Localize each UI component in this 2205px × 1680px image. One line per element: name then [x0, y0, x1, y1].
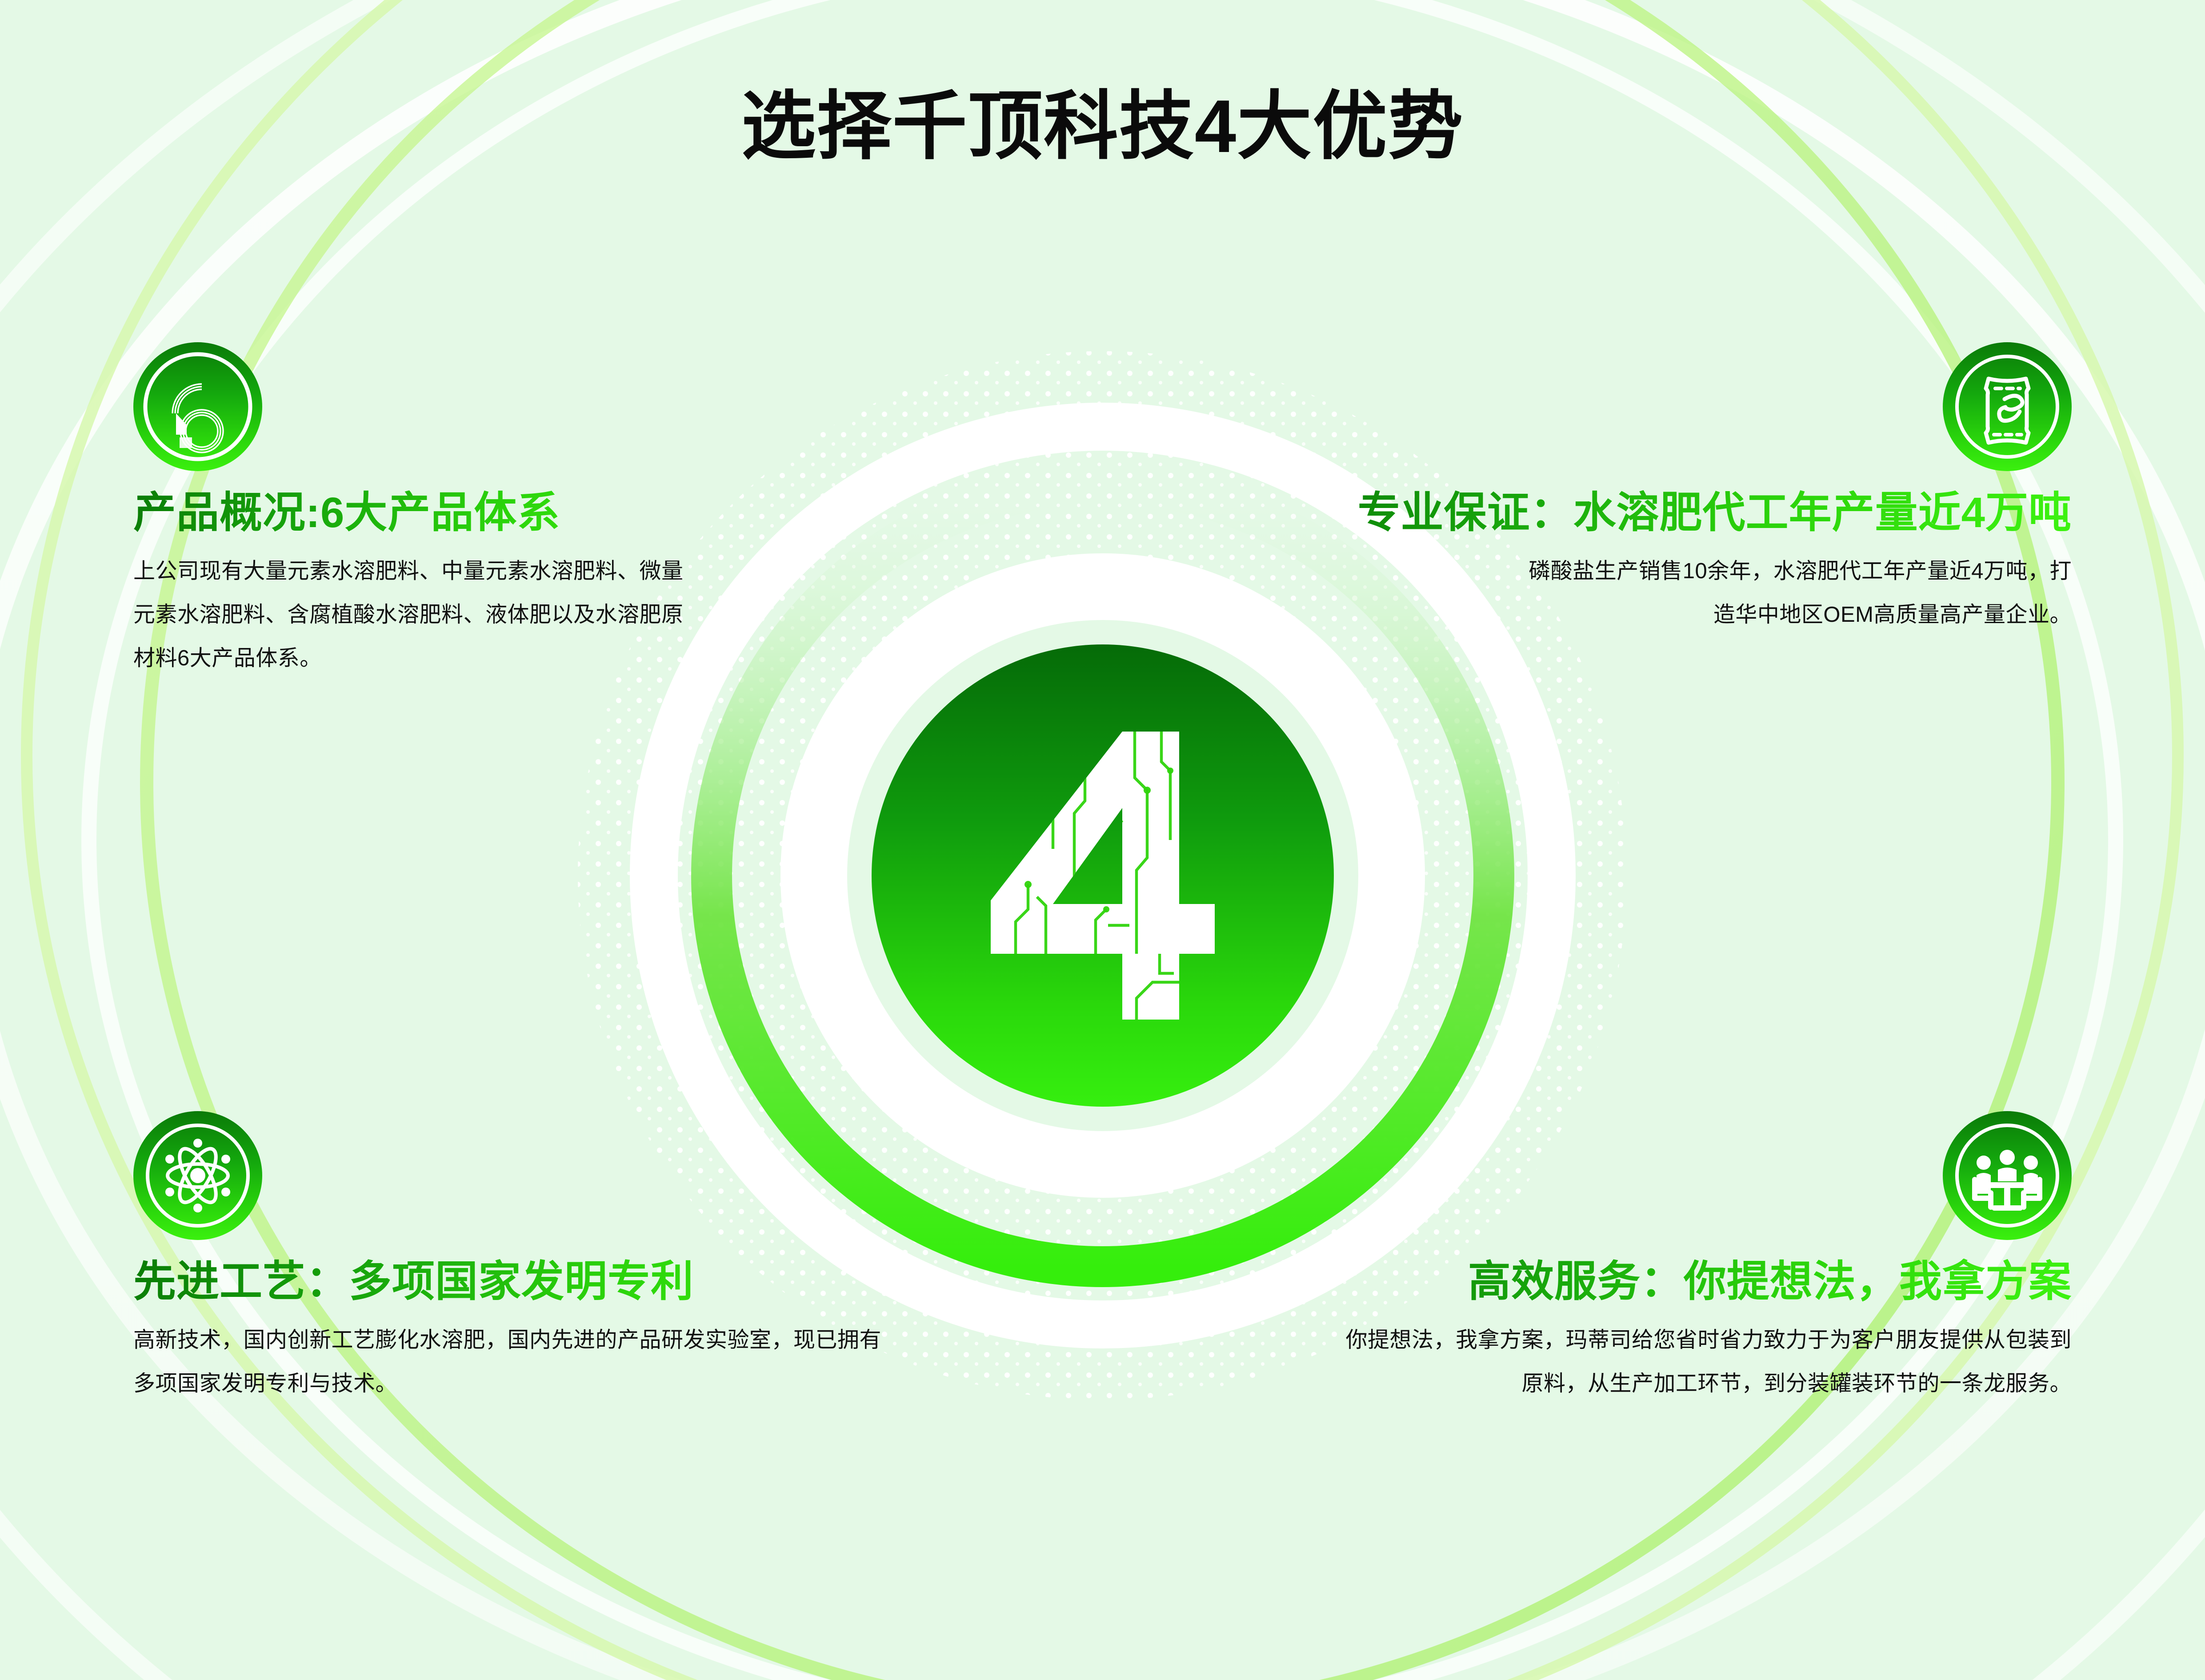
atom-icon [133, 1111, 262, 1240]
feature-title: 产品概况:6大产品体系 [133, 490, 720, 536]
page-title: 选择千顶科技4大优势 [0, 89, 2205, 164]
feature-advanced-process[interactable]: 先进工艺：多项国家发明专利 高新技术，国内创新工艺膨化水溶肥，国内先进的产品研发… [133, 1111, 898, 1405]
feature-title: 先进工艺：多项国家发明专利 [133, 1259, 898, 1305]
poster-canvas: 选择千顶科技4大优势 [0, 0, 2205, 1680]
center-number-circle [872, 644, 1334, 1107]
feature-body: 高新技术，国内创新工艺膨化水溶肥，国内先进的产品研发实验室，现已拥有多项国家发明… [133, 1318, 884, 1405]
feature-title: 高效服务：你提想法，我拿方案 [1316, 1259, 2072, 1305]
numeral-four-icon [960, 716, 1245, 1036]
feature-body: 你提想法，我拿方案，玛蒂司给您省时省力致力于为客户朋友提供从包装到原料，从生产加… [1329, 1318, 2072, 1405]
numeral-six-icon [133, 342, 262, 471]
meeting-table-icon [1943, 1111, 2072, 1240]
fertilizer-bag-icon [1943, 342, 2072, 471]
feature-title: 专业保证：水溶肥代工年产量近4万吨 [1272, 490, 2072, 536]
feature-product-overview[interactable]: 产品概况:6大产品体系 上公司现有大量元素水溶肥料、中量元素水溶肥料、微量元素水… [133, 342, 720, 680]
feature-efficient-service[interactable]: 高效服务：你提想法，我拿方案 你提想法，我拿方案，玛蒂司给您省时省力致力于为客户… [1316, 1111, 2072, 1405]
feature-body: 上公司现有大量元素水溶肥料、中量元素水溶肥料、微量元素水溶肥料、含腐植酸水溶肥料… [133, 549, 684, 680]
feature-body: 磷酸盐生产销售10余年，水溶肥代工年产量近4万吨，打造华中地区OEM高质量高产量… [1512, 549, 2072, 636]
feature-professional-guarantee[interactable]: 专业保证：水溶肥代工年产量近4万吨 磷酸盐生产销售10余年，水溶肥代工年产量近4… [1272, 342, 2072, 636]
